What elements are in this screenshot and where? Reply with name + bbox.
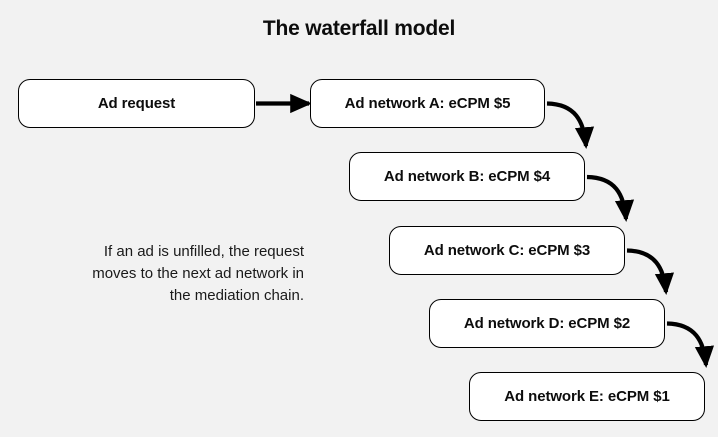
node-ad-network-b[interactable]: Ad network B: eCPM $4 [349, 152, 585, 201]
node-ad-network-c[interactable]: Ad network C: eCPM $3 [389, 226, 625, 275]
edge-network-b-to-network-c [587, 177, 626, 219]
node-ad-network-a[interactable]: Ad network A: eCPM $5 [310, 79, 545, 128]
node-ad-network-d[interactable]: Ad network D: eCPM $2 [429, 299, 665, 348]
node-ad-request[interactable]: Ad request [18, 79, 255, 128]
diagram-canvas: The waterfall model Ad request Ad networ… [0, 0, 718, 437]
edge-network-a-to-network-b [547, 104, 586, 147]
node-ad-network-e[interactable]: Ad network E: eCPM $1 [469, 372, 705, 421]
edge-network-d-to-network-e [667, 324, 706, 366]
edge-network-c-to-network-d [627, 251, 666, 293]
